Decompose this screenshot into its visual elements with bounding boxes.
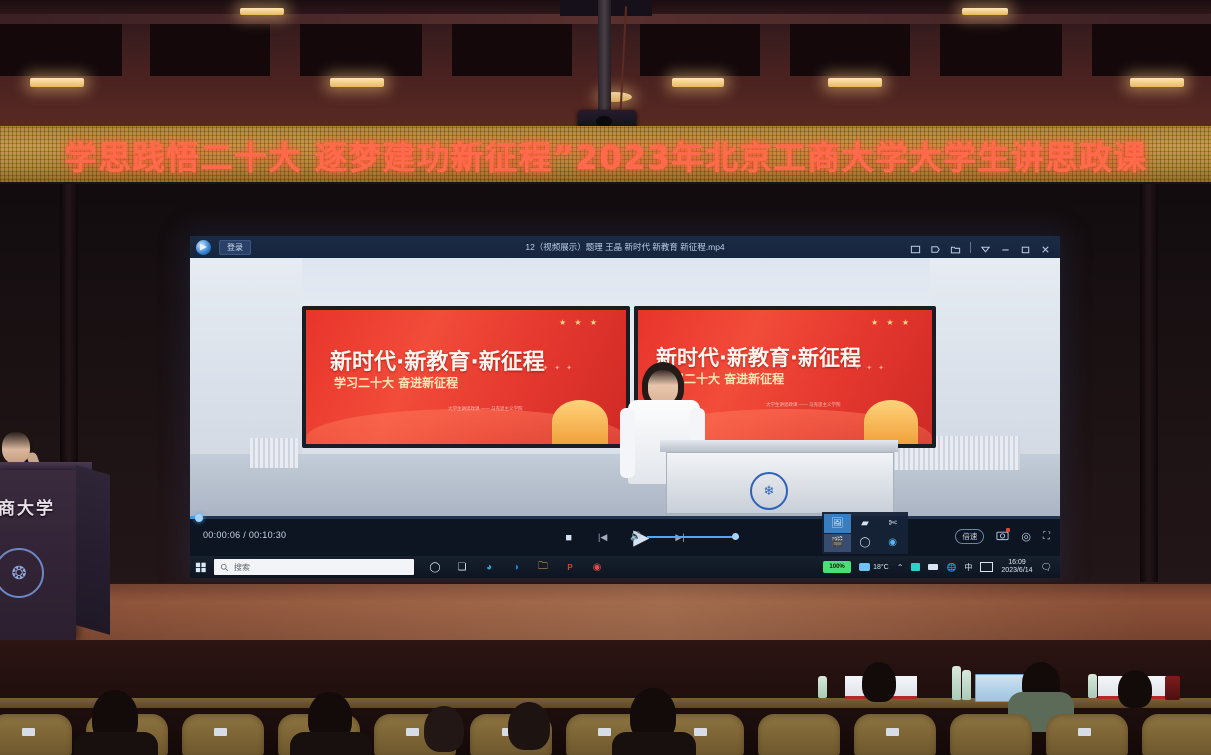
cut-tool-icon[interactable]: ✄ xyxy=(879,514,906,533)
audience-person-body xyxy=(290,732,372,755)
video-wall-panel xyxy=(930,258,1060,454)
presenter-arm xyxy=(620,408,635,478)
ceiling-recess xyxy=(150,24,270,76)
ime-indicator[interactable]: 中 xyxy=(964,562,972,573)
close-icon[interactable] xyxy=(1040,242,1051,253)
edge-icon[interactable]: ◕ xyxy=(482,560,496,574)
temple-illustration xyxy=(864,400,918,444)
playback-speed-button[interactable]: 倍速 xyxy=(955,529,984,544)
ceiling-recess xyxy=(1092,24,1211,76)
cast-icon[interactable] xyxy=(930,242,941,253)
audience-person-body xyxy=(612,732,696,755)
seat-number-tag xyxy=(886,728,899,736)
slide-subtitle: 学习二十大 奋进新征程 xyxy=(334,374,458,391)
window-controls[interactable] xyxy=(910,242,1060,253)
clock[interactable]: 16:09 2023/6/14 xyxy=(1001,559,1032,576)
seat xyxy=(1142,714,1211,755)
auditorium-scene: 学思践悟二十大 逐梦建功新征程”2023年北京工商大学大学生讲思政课 登录 12… xyxy=(0,0,1211,755)
presenter-head xyxy=(648,370,678,404)
water-bottle xyxy=(952,666,961,700)
seat-number-tag xyxy=(694,728,707,736)
volume-handle[interactable] xyxy=(732,533,739,540)
lectern-top xyxy=(660,440,898,452)
slide-fine-print: 大学生讲思政课 —— 马克思主义学院 xyxy=(448,406,523,412)
record-tool-icon[interactable]: 🎬 xyxy=(824,534,851,553)
ceiling-light xyxy=(962,8,1008,15)
previous-button[interactable]: |◀ xyxy=(598,532,607,543)
ceiling-recess xyxy=(300,24,422,76)
ceiling xyxy=(0,0,1211,130)
taskview-cortana-icon[interactable]: ◯ xyxy=(428,560,442,574)
ceiling-recess xyxy=(790,24,910,76)
ceiling-light xyxy=(672,78,724,87)
divider xyxy=(970,242,971,253)
volume-icon[interactable]: 🔊 xyxy=(630,531,641,542)
projector-rod xyxy=(598,0,611,122)
slide-fine-print: 大学生讲思政课 —— 马克思主义学院 xyxy=(766,402,841,408)
slide-title: 新时代·新教育·新征程 xyxy=(330,344,545,376)
video-viewport[interactable]: ★ ★ ★ ✦ ✦ ✦ 新时代·新教育·新征程 学习二十大 奋进新征程 大学生讲… xyxy=(190,258,1060,518)
folder-icon[interactable] xyxy=(950,242,961,253)
file-explorer-icon[interactable]: 🗀 xyxy=(536,560,550,574)
progress-handle[interactable] xyxy=(195,514,203,522)
seat xyxy=(950,714,1032,755)
weather-temp: 18°C xyxy=(873,564,889,571)
audience-person xyxy=(424,706,464,752)
ceiling-light xyxy=(330,78,384,87)
chevron-up-icon[interactable]: ⌃ xyxy=(897,563,904,572)
player-logo-icon xyxy=(196,240,211,255)
video-wall-panel xyxy=(190,258,302,454)
projection-screen: 登录 12（视频展示）题理 王晶 新时代 新教育 新征程.mp4 xyxy=(190,236,1060,578)
tool-overlay-grid[interactable]: 🖼 ▰ ✄ 🎬 ◯ ◉ xyxy=(822,512,908,554)
slide-stars: ★ ★ ★ xyxy=(871,318,912,327)
ceiling-light xyxy=(1130,78,1184,87)
audience-person xyxy=(1118,670,1152,708)
audio-tool-icon[interactable]: ◯ xyxy=(852,534,879,553)
audience-area: 孟晓茂 徐秀丽 xyxy=(0,640,1211,755)
clock-time: 16:09 xyxy=(1001,559,1032,568)
ceiling-recess xyxy=(452,24,572,76)
current-time: 00:00:06 xyxy=(203,530,240,540)
screenshot-icon[interactable] xyxy=(910,242,921,253)
taskbar-app-icons[interactable]: ◯ ❏ ◕ ◑ 🗀 P ◉ xyxy=(428,560,604,574)
fullscreen-icon[interactable]: ⛶ xyxy=(1043,531,1050,542)
search-box[interactable]: 搜索 xyxy=(214,559,414,575)
screenshot-tool-icon[interactable]: 🖼 xyxy=(824,514,851,533)
player-control-bar[interactable]: 00:00:06 / 00:10:30 ■ |◀ ▶ ▶| 🔊 🖼 ▰ ✄ xyxy=(190,518,1060,556)
player-right-controls[interactable]: 倍速 ◎ ⛶ xyxy=(955,529,1050,544)
search-placeholder: 搜索 xyxy=(234,562,250,573)
time-display: 00:00:06 / 00:10:30 xyxy=(203,530,286,540)
ceiling-recess xyxy=(940,24,1062,76)
battery-label: 100% xyxy=(824,562,850,572)
podium-side-panel xyxy=(76,465,110,635)
seat-number-tag xyxy=(406,728,419,736)
thermos-cup xyxy=(1165,676,1180,700)
weather-indicator[interactable]: 18°C xyxy=(859,563,889,571)
radiator xyxy=(250,438,298,468)
seat-number-tag xyxy=(598,728,611,736)
volume-tray-icon[interactable] xyxy=(928,564,938,570)
seat xyxy=(0,714,72,755)
slide-left: ★ ★ ★ ✦ ✦ ✦ 新时代·新教育·新征程 学习二十大 奋进新征程 大学生讲… xyxy=(302,306,630,448)
slide-title: 新时代·新教育·新征程 xyxy=(656,342,861,372)
slide-birds: ✦ ✦ ✦ xyxy=(543,364,575,372)
gif-tool-icon[interactable]: ▰ xyxy=(852,514,879,533)
network-tray-icon[interactable] xyxy=(911,563,920,571)
water-bottle xyxy=(1088,674,1097,698)
podium-university-name: 商大学 xyxy=(0,494,55,519)
battery-indicator[interactable]: 100% xyxy=(823,561,851,573)
total-time: 00:10:30 xyxy=(249,530,286,540)
lectern-emblem-icon: ❄ xyxy=(750,472,788,510)
ceiling-light xyxy=(828,78,882,87)
audience-person xyxy=(862,662,896,702)
audience-person xyxy=(508,702,550,750)
maximize-icon[interactable] xyxy=(1020,242,1031,253)
powerpoint-icon[interactable]: P xyxy=(563,560,577,574)
progress-bar[interactable] xyxy=(190,516,1060,519)
media-player-titlebar[interactable]: 登录 12（视频展示）题理 王晶 新时代 新教育 新征程.mp4 xyxy=(190,236,1060,258)
capture-icon[interactable] xyxy=(996,529,1009,544)
media-player-icon[interactable]: ◉ xyxy=(590,560,604,574)
ceiling-recess xyxy=(640,24,760,76)
stop-button[interactable]: ■ xyxy=(565,532,572,544)
notification-icon[interactable]: 🗨 xyxy=(1041,562,1052,573)
system-tray[interactable]: 100% 18°C ⌃ 🌐 中 16:09 2023/6/14 🗨 xyxy=(823,559,1060,576)
banner-title: 学思践悟二十大 逐梦建功新征程”2023年北京工商大学大学生讲思政课 xyxy=(64,131,1147,179)
seat xyxy=(758,714,840,755)
weather-icon xyxy=(859,563,870,571)
time-separator: / xyxy=(243,530,246,540)
audience-person-body xyxy=(74,732,158,755)
windows-taskbar[interactable]: 搜索 ◯ ❏ ◕ ◑ 🗀 P ◉ 100% 18°C ⌃ xyxy=(190,556,1060,578)
more-tool-icon[interactable]: ◉ xyxy=(879,534,906,553)
start-button[interactable] xyxy=(190,556,212,578)
login-button[interactable]: 登录 xyxy=(219,240,251,255)
search-icon xyxy=(220,563,229,572)
task-view-icon[interactable]: ❏ xyxy=(455,560,469,574)
globe-icon[interactable]: 🌐 xyxy=(946,563,956,572)
minimize-icon[interactable] xyxy=(1000,242,1011,253)
water-bottle xyxy=(818,676,827,698)
clock-date: 2023/6/14 xyxy=(1001,567,1032,576)
ceiling-light xyxy=(30,78,84,87)
led-banner: 学思践悟二十大 逐梦建功新征程”2023年北京工商大学大学生讲思政课 xyxy=(0,126,1211,184)
chevron-down-icon[interactable] xyxy=(980,242,991,253)
eye-icon[interactable]: ◎ xyxy=(1021,530,1031,543)
seat-number-tag xyxy=(1078,728,1091,736)
keyboard-icon[interactable] xyxy=(980,562,993,572)
volume-slider[interactable] xyxy=(647,536,739,538)
seat-number-tag xyxy=(214,728,227,736)
ceiling-recess xyxy=(0,24,122,76)
browser-icon[interactable]: ◑ xyxy=(509,560,523,574)
water-bottle xyxy=(962,670,971,700)
ceiling-light xyxy=(240,8,284,15)
slide-stars: ★ ★ ★ xyxy=(559,318,600,327)
seat-number-tag xyxy=(22,728,35,736)
wall-column xyxy=(1140,184,1158,584)
temple-illustration xyxy=(552,400,608,444)
volume-control[interactable]: 🔊 xyxy=(630,531,739,542)
host-head xyxy=(2,432,30,464)
